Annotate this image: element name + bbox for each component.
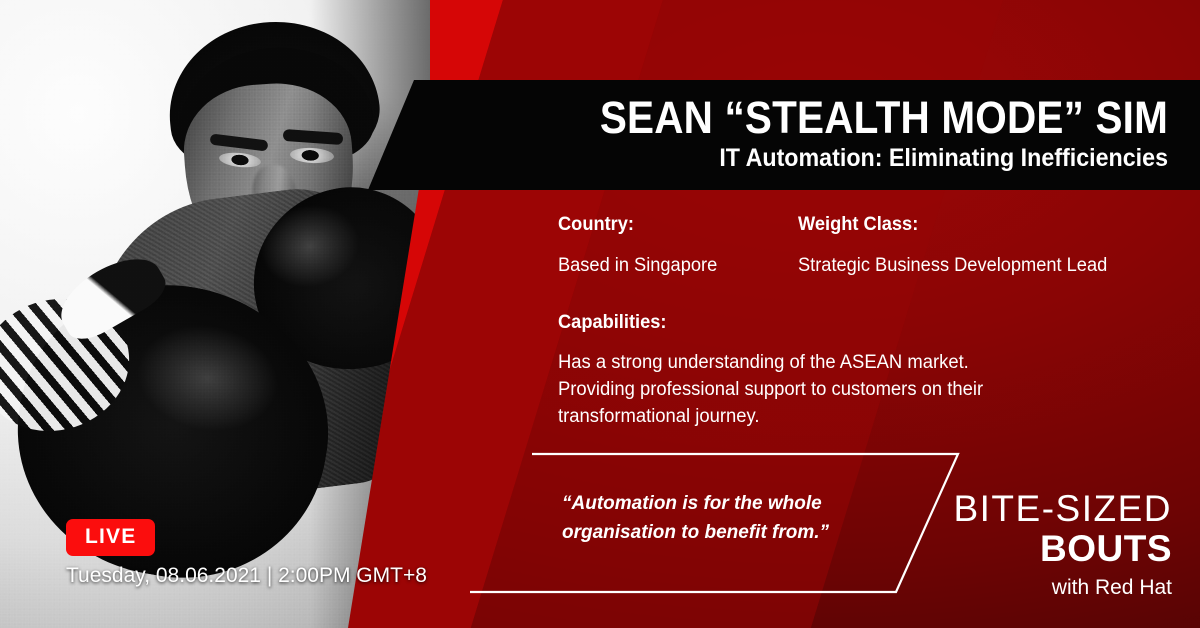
weight-class-field: Weight Class: Strategic Business Develop…: [798, 214, 1188, 278]
country-field: Country: Based in Singapore: [558, 214, 798, 278]
webinar-promo-poster: SEAN “STEALTH MODE” SIM IT Automation: E…: [0, 0, 1200, 628]
brand-line-bouts: BOUTS: [953, 529, 1172, 569]
event-datetime: Tuesday, 08.06.2021 | 2:00PM GMT+8: [66, 564, 427, 588]
live-badge: LIVE: [66, 519, 155, 556]
quote-callout: “Automation is for the whole organisatio…: [470, 452, 960, 594]
country-value: Based in Singapore: [558, 255, 788, 278]
weight-class-label: Weight Class:: [798, 214, 1172, 237]
country-label: Country:: [558, 214, 788, 237]
quote-line: organisation to benefit from.”: [562, 519, 892, 548]
brand-lockup: BITE-SIZED BOUTS with Red Hat: [953, 490, 1172, 600]
quote-line: “Automation is for the whole: [562, 490, 892, 519]
brand-line-bite-sized: BITE-SIZED: [953, 490, 1172, 527]
capabilities-field: Capabilities: Has a strong understanding…: [558, 312, 1188, 432]
capabilities-line: Providing professional support to custom…: [558, 377, 1169, 404]
weight-class-value: Strategic Business Development Lead: [798, 255, 1172, 278]
capabilities-text: Has a strong understanding of the ASEAN …: [558, 350, 1169, 431]
speaker-name: SEAN “STEALTH MODE” SIM: [448, 94, 1168, 141]
capabilities-line: Has a strong understanding of the ASEAN …: [558, 350, 1169, 377]
title-banner: SEAN “STEALTH MODE” SIM IT Automation: E…: [368, 80, 1200, 190]
session-topic: IT Automation: Eliminating Inefficiencie…: [424, 144, 1168, 173]
quote-text: “Automation is for the whole organisatio…: [562, 490, 892, 547]
capabilities-label: Capabilities:: [558, 312, 1163, 335]
capabilities-line: transformational journey.: [558, 404, 1169, 431]
speaker-details: Country: Based in Singapore Weight Class…: [558, 214, 1188, 431]
details-row-primary: Country: Based in Singapore Weight Class…: [558, 214, 1188, 278]
brand-line-with-red-hat: with Red Hat: [953, 575, 1172, 600]
